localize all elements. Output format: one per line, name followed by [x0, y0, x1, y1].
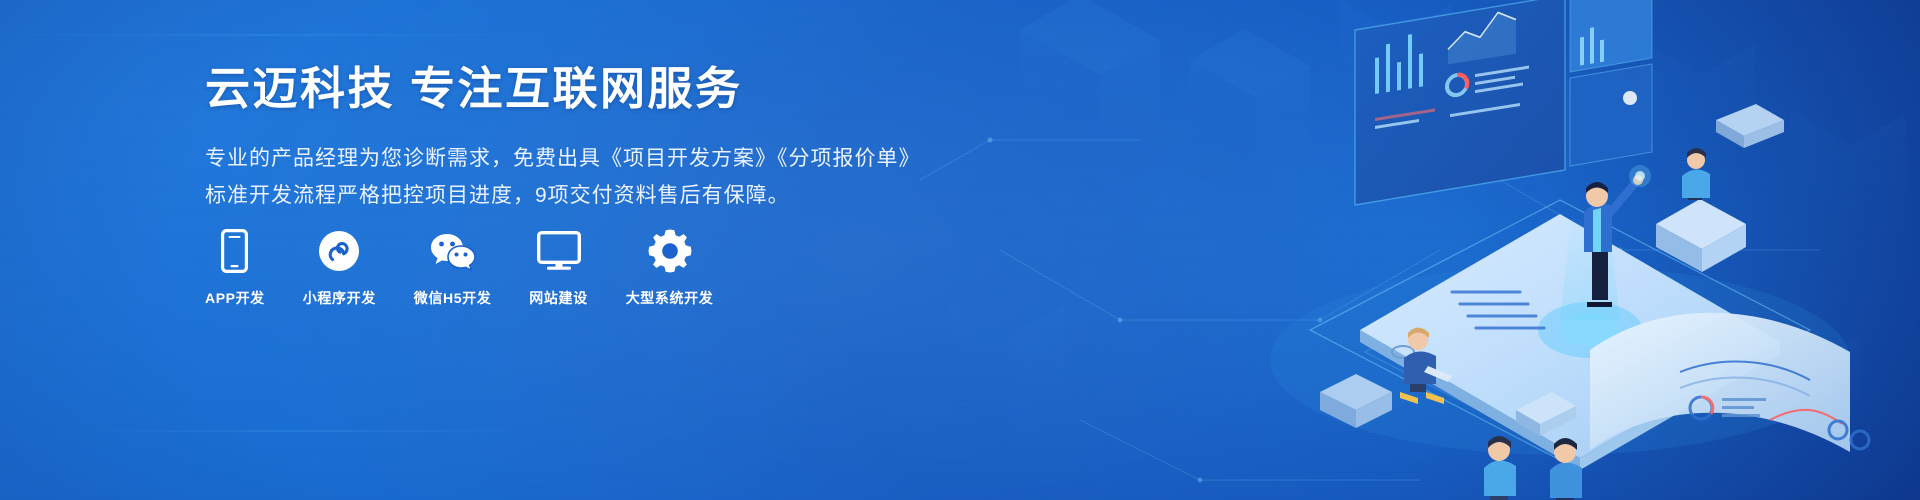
service-label: 网站建设 [529, 288, 587, 308]
service-label: 小程序开发 [303, 288, 376, 308]
subtitle-line-1: 专业的产品经理为您诊断需求，免费出具《项目开发方案》《分项报价单》 [205, 141, 925, 177]
service-item-app[interactable]: APP开发 [205, 228, 265, 308]
service-item-wechat-h5[interactable]: 微信H5开发 [414, 228, 492, 308]
monitor-icon [537, 228, 581, 274]
service-label: APP开发 [205, 288, 265, 308]
subtitle-line-2: 标准开发流程严格把控项目进度，9项交付资料售后有保障。 [205, 178, 925, 214]
service-list: APP开发 小程序开发 [205, 228, 713, 308]
gear-icon [648, 228, 692, 274]
service-item-website[interactable]: 网站建设 [529, 228, 587, 308]
service-label: 大型系统开发 [626, 288, 714, 308]
mobile-phone-icon [221, 228, 248, 274]
banner-subtitle: 专业的产品经理为您诊断需求，免费出具《项目开发方案》《分项报价单》 标准开发流程… [205, 141, 925, 213]
service-item-large-system[interactable]: 大型系统开发 [626, 228, 714, 308]
service-label: 微信H5开发 [414, 288, 492, 308]
mini-program-icon [318, 228, 360, 274]
isometric-dashboard-illustration [1160, 0, 1920, 500]
banner-content: 云迈科技 专注互联网服务 专业的产品经理为您诊断需求，免费出具《项目开发方案》《… [205, 64, 925, 214]
hero-banner: 云迈科技 专注互联网服务 专业的产品经理为您诊断需求，免费出具《项目开发方案》《… [0, 0, 1920, 500]
service-item-miniprogram[interactable]: 小程序开发 [303, 228, 376, 308]
wechat-icon [429, 228, 477, 274]
banner-title: 云迈科技 专注互联网服务 [205, 64, 925, 114]
